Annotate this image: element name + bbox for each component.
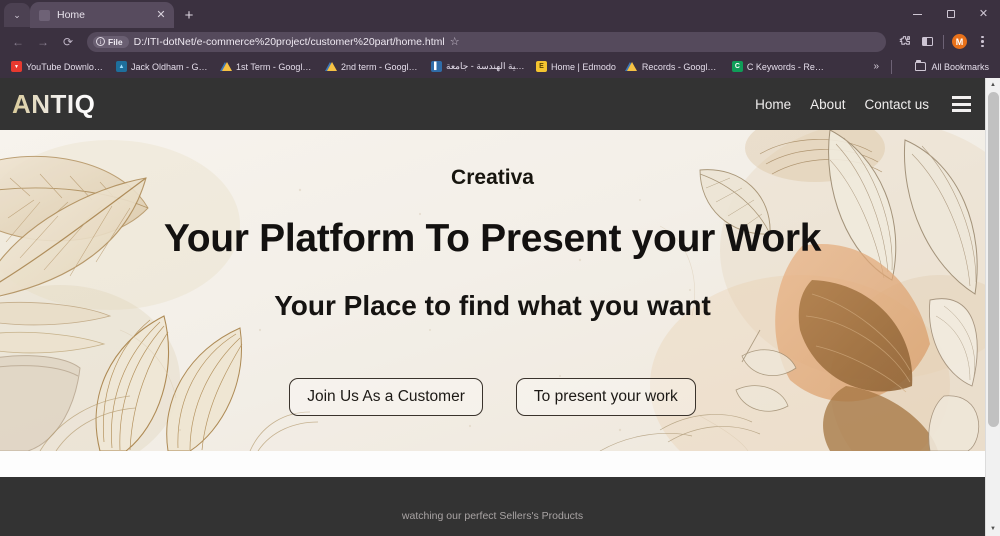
minimize-button[interactable] xyxy=(901,0,934,28)
tab-search-button[interactable]: ⌄ xyxy=(4,3,30,27)
side-panel-icon xyxy=(922,37,933,46)
site-footer: watching our perfect Sellers's Products xyxy=(0,477,985,536)
site-logo[interactable]: ANTIQ xyxy=(12,89,95,120)
bookmarks-divider xyxy=(891,60,892,74)
reload-button[interactable]: ⟳ xyxy=(57,31,79,53)
file-scheme-label: File xyxy=(108,37,123,47)
arabic-site-icon xyxy=(431,61,442,72)
footer-tagline: watching our perfect Sellers's Products xyxy=(402,510,583,522)
tab-title: Home xyxy=(57,9,147,21)
bookmark-label: Jack Oldham - Gala... xyxy=(131,62,210,72)
bookmark-label: C Keywords - Reser... xyxy=(747,62,826,72)
toolbar-divider xyxy=(943,35,944,49)
browser-tab-home[interactable]: Home ✕ xyxy=(30,2,174,28)
site-header: ANTIQ Home About Contact us xyxy=(0,78,985,130)
bookmark-item[interactable]: 2nd term - Google... xyxy=(321,59,425,74)
close-window-button[interactable]: ✕ xyxy=(967,0,1000,28)
blue-page-icon xyxy=(116,61,127,72)
google-drive-icon xyxy=(221,61,232,72)
bookmark-item[interactable]: C Keywords - Reser... xyxy=(727,59,831,74)
address-bar[interactable]: i File D:/ITI-dotNet/e-commerce%20projec… xyxy=(87,32,886,52)
nav-link-about[interactable]: About xyxy=(810,97,845,112)
browser-window: ⌄ Home ✕ + ✕ ← → ⟳ i File D:/ITI-dotNet/… xyxy=(0,0,1000,536)
bookmark-item[interactable]: 1st Term - Google D... xyxy=(216,59,320,74)
bookmark-star-icon[interactable]: ☆ xyxy=(450,35,462,48)
edmodo-icon xyxy=(536,61,547,72)
avatar: M xyxy=(952,34,967,49)
all-bookmarks-button[interactable]: All Bookmarks xyxy=(910,60,994,74)
browser-toolbar: ← → ⟳ i File D:/ITI-dotNet/e-commerce%20… xyxy=(0,28,1000,55)
toolbar-icons: M xyxy=(894,31,993,52)
back-button[interactable]: ← xyxy=(7,31,29,53)
tab-close-icon[interactable]: ✕ xyxy=(154,10,168,21)
present-your-work-button[interactable]: To present your work xyxy=(516,378,696,416)
hero-content: Creativa Your Platform To Present your W… xyxy=(0,130,985,451)
kebab-menu-icon xyxy=(981,36,984,48)
forward-button[interactable]: → xyxy=(32,31,54,53)
join-as-customer-button[interactable]: Join Us As a Customer xyxy=(289,378,483,416)
bookmark-label: Home | Edmodo xyxy=(551,62,616,72)
hero-subheadline: Your Place to find what you want xyxy=(274,290,711,322)
scrollbar-thumb[interactable] xyxy=(988,92,999,427)
tab-strip: ⌄ Home ✕ + ✕ xyxy=(0,0,1000,28)
side-panel-button[interactable] xyxy=(917,31,938,52)
hero-section: Creativa Your Platform To Present your W… xyxy=(0,130,985,451)
folder-icon xyxy=(915,62,926,71)
extensions-icon[interactable] xyxy=(894,31,915,52)
page-viewport: ANTIQ Home About Contact us xyxy=(0,78,1000,536)
file-scheme-chip[interactable]: i File xyxy=(93,36,129,48)
page-scrollbar[interactable]: ▲ ▼ xyxy=(985,78,1000,536)
tab-favicon-icon xyxy=(39,10,50,21)
nav-link-home[interactable]: Home xyxy=(755,97,791,112)
browser-menu-button[interactable] xyxy=(972,31,993,52)
bookmarks-overflow-button[interactable]: » xyxy=(868,59,884,74)
bookmark-item[interactable]: كلية الهندسة - جامعة... xyxy=(426,59,530,74)
hero-cta-row: Join Us As a Customer To present your wo… xyxy=(289,378,696,416)
bookmark-item[interactable]: Jack Oldham - Gala... xyxy=(111,59,215,74)
bookmark-label: Records - Google D... xyxy=(642,62,721,72)
info-icon: i xyxy=(96,37,105,46)
all-bookmarks-label: All Bookmarks xyxy=(931,62,989,72)
chevron-down-icon: ⌄ xyxy=(13,10,21,21)
youtube-icon xyxy=(11,61,22,72)
bookmark-item[interactable]: Home | Edmodo xyxy=(531,59,621,74)
scrollbar-track[interactable] xyxy=(986,92,1000,522)
bookmark-label: 2nd term - Google... xyxy=(341,62,420,72)
nav-link-contact-us[interactable]: Contact us xyxy=(864,97,929,112)
bookmark-label: YouTube Download... xyxy=(26,62,105,72)
profile-button[interactable]: M xyxy=(949,31,970,52)
hero-headline: Your Platform To Present your Work xyxy=(164,217,821,261)
maximize-icon xyxy=(947,10,955,18)
google-drive-icon xyxy=(627,61,638,72)
content-gap-band xyxy=(0,451,985,477)
green-doc-icon xyxy=(732,61,743,72)
scroll-up-arrow-icon[interactable]: ▲ xyxy=(986,78,1000,92)
hero-eyebrow: Creativa xyxy=(451,166,534,190)
bookmark-label: 1st Term - Google D... xyxy=(236,62,315,72)
maximize-button[interactable] xyxy=(934,0,967,28)
window-controls: ✕ xyxy=(901,0,1000,28)
bookmark-item[interactable]: YouTube Download... xyxy=(6,59,110,74)
new-tab-button[interactable]: + xyxy=(177,3,201,27)
bookmark-label: كلية الهندسة - جامعة... xyxy=(446,61,525,72)
scroll-down-arrow-icon[interactable]: ▼ xyxy=(986,522,1000,536)
bookmark-item[interactable]: Records - Google D... xyxy=(622,59,726,74)
bookmarks-bar: YouTube Download... Jack Oldham - Gala..… xyxy=(0,55,1000,78)
hamburger-menu-icon[interactable] xyxy=(952,94,971,114)
google-drive-icon xyxy=(326,61,337,72)
close-icon: ✕ xyxy=(979,9,988,20)
main-navigation: Home About Contact us xyxy=(755,94,971,114)
web-page: ANTIQ Home About Contact us xyxy=(0,78,985,536)
minimize-icon xyxy=(913,14,922,15)
url-text[interactable]: D:/ITI-dotNet/e-commerce%20project/custo… xyxy=(134,36,445,48)
